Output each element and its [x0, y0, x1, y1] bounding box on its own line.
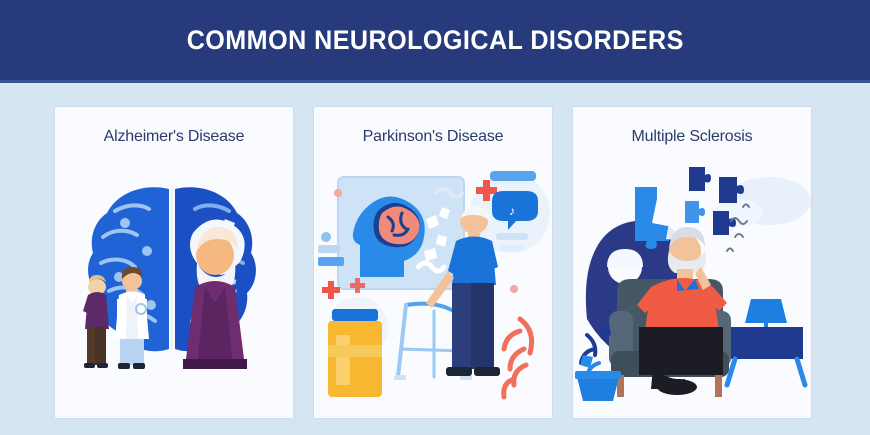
- card-parkinsons[interactable]: Parkinson's Disease: [314, 107, 552, 418]
- cards-row: Alzheimer's Disease: [55, 107, 811, 418]
- illustration-parkinsons: ♪: [314, 159, 552, 409]
- card-title-parkinsons: Parkinson's Disease: [314, 128, 552, 146]
- table-lamp: [745, 299, 787, 327]
- svg-text:♪: ♪: [509, 204, 515, 218]
- illustration-multiple-sclerosis: [573, 159, 811, 409]
- illustration-alzheimers: [55, 159, 293, 409]
- card-multiple-sclerosis[interactable]: Multiple Sclerosis: [573, 107, 811, 418]
- infographic-page: COMMON NEUROLOGICAL DISORDERS Alzheimer'…: [0, 0, 870, 435]
- header-banner: COMMON NEUROLOGICAL DISORDERS: [0, 0, 870, 83]
- card-alzheimers[interactable]: Alzheimer's Disease: [55, 107, 293, 418]
- pill-bottle: [328, 309, 382, 397]
- page-title: COMMON NEUROLOGICAL DISORDERS: [186, 25, 683, 56]
- scan-panel: [338, 177, 464, 289]
- card-title-multiple-sclerosis: Multiple Sclerosis: [573, 128, 811, 146]
- card-title-alzheimers: Alzheimer's Disease: [55, 128, 293, 146]
